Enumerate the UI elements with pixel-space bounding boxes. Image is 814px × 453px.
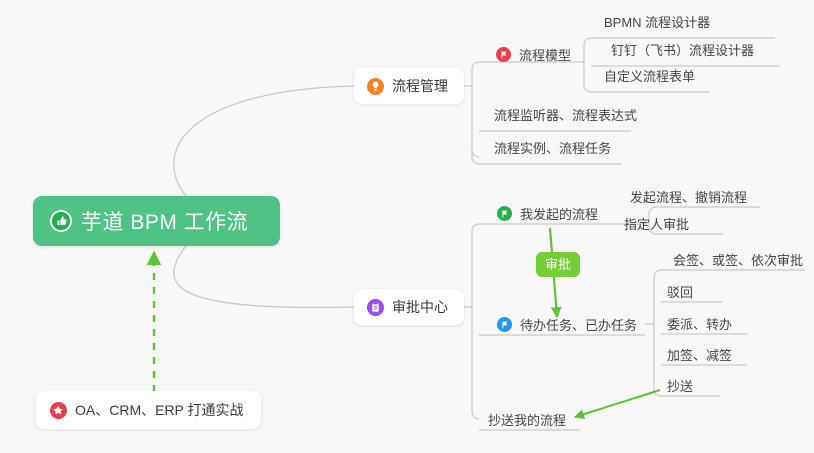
group-label-my-initiated: 我发起的流程 [520,204,598,223]
arrow-cc-to-cc-my-process [575,390,660,417]
star-icon [50,402,67,419]
branch-label-flow-management: 流程管理 [392,76,448,96]
branch-node-approval-center[interactable]: 审批中心 [354,289,464,325]
root-label: 芋道 BPM 工作流 [81,206,248,236]
connector-root-to-flow-management [174,86,354,196]
thumbs-up-icon [50,210,72,232]
group-label-todo-done-tasks: 待办任务、已办任务 [520,315,637,334]
leaf-add-remove-sign[interactable]: 加签、减签 [661,347,738,368]
leaf-reject[interactable]: 驳回 [661,284,699,305]
branch-node-flow-management[interactable]: 流程管理 [354,68,464,104]
flag-icon [496,316,513,333]
connector-process-model-spine [584,38,591,92]
group-header-process-model[interactable]: 流程模型 [495,45,571,64]
root-node[interactable]: 芋道 BPM 工作流 [33,196,280,246]
connector-approval-center-spine [472,224,479,419]
connector-todo-done-spine [654,270,661,396]
flag-icon [496,205,513,222]
connector-flow-management-spine [472,62,479,157]
leaf-start-cancel-process[interactable]: 发起流程、撤销流程 [624,189,753,210]
group-label-process-model: 流程模型 [519,45,571,64]
connector-root-to-approval-center [174,246,354,308]
lightbulb-icon [367,78,384,95]
leaf-cc[interactable]: 抄送 [661,378,699,399]
group-header-todo-done-tasks[interactable]: 待办任务、已办任务 [496,315,637,334]
group-header-my-initiated[interactable]: 我发起的流程 [496,204,598,223]
leaf-bpmn-designer[interactable]: BPMN 流程设计器 [598,14,716,35]
branch-label-approval-center: 审批中心 [392,297,448,317]
callout-label: OA、CRM、ERP 打通实战 [75,400,244,420]
callout-node-integration[interactable]: OA、CRM、ERP 打通实战 [36,391,261,429]
leaf-dingtalk-designer[interactable]: 钉钉（飞书）流程设计器 [605,42,760,63]
leaf-delegate-transfer[interactable]: 委派、转办 [661,316,738,337]
leaf-flow-listener[interactable]: 流程监听器、流程表达式 [488,107,643,128]
leaf-cc-my-process[interactable]: 抄送我的流程 [482,412,572,433]
clipboard-icon [367,299,384,316]
flag-icon [495,46,512,63]
mindmap-canvas: 芋道 BPM 工作流 流程管理 流程模型 BPMN 流程设计器 钉钉（飞书）流程… [0,0,814,453]
annotation-badge-approval: 审批 [536,252,580,277]
leaf-countersign[interactable]: 会签、或签、依次审批 [667,252,809,273]
leaf-custom-form[interactable]: 自定义流程表单 [598,68,701,89]
leaf-flow-instance[interactable]: 流程实例、流程任务 [488,140,617,161]
leaf-assignee-approval[interactable]: 指定人审批 [618,216,695,237]
